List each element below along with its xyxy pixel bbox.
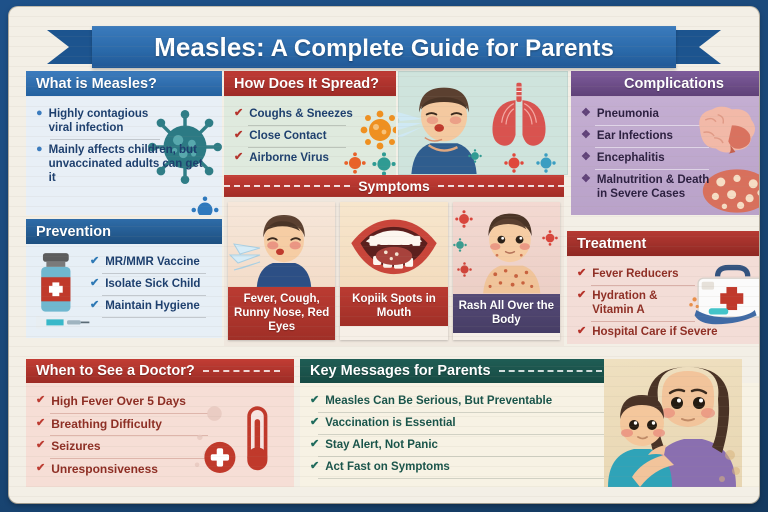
list-item: ● Highly contagious viral infection	[36, 104, 164, 139]
symptom-caption: Kopiik Spots in Mouth	[340, 287, 447, 326]
list-item-label: Pneumonia	[597, 107, 659, 121]
list-item-label: Unresponsiveness	[51, 462, 158, 477]
title-rest: A Complete Guide for Parents	[265, 35, 614, 62]
divider	[102, 317, 206, 318]
symptom-cards: Fever, Cough, Runny Nose, Red Eyes	[224, 197, 564, 346]
symptoms-header: Symptoms	[224, 175, 564, 197]
mother-holding-child-illustration	[604, 359, 742, 487]
list-item-label: Isolate Sick Child	[105, 277, 200, 291]
list-item-label: Seizures	[51, 439, 100, 454]
rash-child-illustration	[453, 202, 560, 294]
panel-how-does-it-spread: How Does It Spread?	[224, 71, 396, 176]
panel-body-when-to-see-doctor: ✔ High Fever Over 5 Days ✔ Breathing Dif…	[26, 383, 294, 487]
list-item-label: Hydration & Vitamin A	[592, 289, 695, 317]
list-item: ✔ Stay Alert, Not Panic	[310, 435, 610, 456]
symptoms-title: Symptoms	[358, 178, 430, 194]
symptom-caption: Fever, Cough, Runny Nose, Red Eyes	[228, 287, 335, 340]
panel-body-what-is-measles: ● Highly contagious viral infection ● Ma…	[26, 96, 222, 215]
check-bullet-icon: ✔	[310, 438, 319, 452]
poster-paper: Measles: A Complete Guide for Parents Wh…	[9, 7, 759, 503]
list-item: ✔ Airborne Virus	[234, 148, 386, 169]
list-item: ✔ Maintain Hygiene	[90, 296, 212, 317]
panel-header-treatment: Treatment	[567, 231, 759, 256]
red-virus-icon	[542, 230, 558, 246]
dashed-line-right	[438, 185, 564, 187]
dashed-line	[499, 370, 602, 372]
check-bullet-icon: ✔	[577, 267, 586, 281]
red-virus-icon	[455, 210, 473, 228]
check-bullet-icon: ✔	[36, 417, 45, 431]
dot-bullet-icon: ●	[36, 107, 43, 121]
check-bullet-icon: ✔	[234, 151, 243, 165]
list-item-label: Mainly affects children, but unvaccinate…	[49, 143, 206, 185]
check-bullet-icon: ✔	[90, 255, 99, 269]
list-item: ✔ Fever Reducers	[577, 264, 695, 285]
panel-when-to-see-doctor: When to See a Doctor?	[26, 359, 294, 487]
first-aid-kit-icon	[687, 264, 759, 326]
check-bullet-icon: ✔	[36, 439, 45, 453]
leaf-bullet-icon: ❖	[581, 107, 591, 121]
symptom-card: Rash All Over the Body	[453, 202, 560, 340]
list-item-label: Coughs & Sneezes	[249, 107, 353, 121]
panel-header-key-messages: Key Messages for Parents	[300, 359, 630, 383]
panel-header-how-does-it-spread: How Does It Spread?	[224, 71, 396, 96]
list-item: ❖ Pneumonia	[581, 104, 709, 125]
teal-virus-small-icon	[468, 149, 482, 163]
check-bullet-icon: ✔	[90, 277, 99, 291]
divider	[318, 478, 610, 479]
list-item-label: Measles Can Be Serious, But Preventable	[325, 394, 552, 408]
list-item-label: Vaccination is Essential	[325, 416, 455, 430]
panel-what-is-measles: What is Measles?	[26, 71, 222, 215]
list-item-label: Close Contact	[249, 129, 326, 143]
panel-body-prevention: ✔ MR/MMR Vaccine ✔ Isolate Sick Child ✔ …	[26, 244, 222, 338]
mother-and-child-icon	[604, 359, 742, 487]
check-bullet-icon: ✔	[310, 416, 319, 430]
panel-title-when-to-see-doctor: When to See a Doctor?	[36, 363, 195, 379]
panel-prevention: Prevention	[26, 219, 222, 338]
title-banner: Measles: A Complete Guide for Parents	[47, 26, 721, 68]
list-item-label: Malnutrition & Death in Severe Cases	[597, 173, 721, 201]
section-symptoms: Symptoms	[224, 175, 564, 346]
panel-header-prevention: Prevention	[26, 219, 222, 244]
list-item: ✔ Hydration & Vitamin A	[577, 286, 695, 321]
blue-virus-icon	[536, 153, 556, 173]
list-item: ✔ Seizures	[36, 436, 208, 458]
page-title: Measles: A Complete Guide for Parents	[154, 32, 614, 63]
check-bullet-icon: ✔	[234, 107, 243, 121]
symptom-card: Kopiik Spots in Mouth	[340, 202, 447, 340]
list-item: ✔ MR/MMR Vaccine	[90, 252, 212, 273]
coughing-boy-lungs-illustration	[398, 71, 568, 175]
list-item: ✔ Act Fast on Symptoms	[310, 457, 610, 478]
vaccine-vial-syringe-icon	[30, 248, 92, 334]
open-mouth-spots-illustration	[340, 202, 447, 287]
dashed-line-left	[224, 185, 350, 187]
list-item: ● Mainly affects children, but unvaccina…	[36, 140, 206, 189]
panel-body-treatment: ✔ Fever Reducers ✔ Hydration & Vitamin A…	[567, 256, 759, 344]
list-item-label: Encephalitis	[597, 151, 665, 165]
lungs-icon	[484, 81, 554, 147]
red-virus-icon	[457, 262, 472, 277]
symptom-caption: Rash All Over the Body	[453, 294, 560, 333]
check-bullet-icon: ✔	[577, 325, 586, 339]
leaf-bullet-icon: ❖	[581, 173, 591, 187]
list-item: ✔ Breathing Difficulty	[36, 414, 208, 436]
title-emphasis: Measles:	[154, 32, 265, 62]
sneezing-boy-illustration	[228, 202, 335, 287]
list-item: ❖ Ear Infections	[581, 126, 709, 147]
panel-header-when-to-see-doctor: When to See a Doctor?	[26, 359, 294, 383]
ribbon-tail-right	[669, 30, 721, 64]
list-item: ❖ Encephalitis	[581, 148, 709, 169]
list-item-label: Hospital Care if Severe	[592, 325, 717, 339]
list-item-label: High Fever Over 5 Days	[51, 394, 186, 409]
list-item: ✔ Coughs & Sneezes	[234, 104, 386, 125]
list-item: ✔ Close Contact	[234, 126, 386, 147]
panel-complications: Complications	[571, 71, 759, 215]
list-item: ✔ High Fever Over 5 Days	[36, 391, 208, 413]
check-bullet-icon: ✔	[36, 462, 45, 476]
list-item: ✔ Unresponsiveness	[36, 459, 208, 481]
list-item-label: Ear Infections	[597, 129, 673, 143]
check-bullet-icon: ✔	[310, 394, 319, 408]
symptom-card: Fever, Cough, Runny Nose, Red Eyes	[228, 202, 335, 340]
list-item-label: Fever Reducers	[592, 267, 678, 281]
panel-body-complications: ❖ Pneumonia ❖ Ear Infections ❖ Encephali…	[571, 96, 759, 215]
check-bullet-icon: ✔	[36, 394, 45, 408]
list-item-label: Maintain Hygiene	[105, 299, 200, 313]
list-item: ❖ Malnutrition & Death in Severe Cases	[581, 170, 721, 205]
panel-header-what-is-measles: What is Measles?	[26, 71, 222, 96]
list-item: ✔ Hospital Care if Severe	[577, 322, 747, 343]
title-ribbon: Measles: A Complete Guide for Parents	[92, 26, 676, 68]
poster-sheet: Measles: A Complete Guide for Parents Wh…	[9, 7, 759, 503]
list-item-label: Airborne Virus	[249, 151, 329, 165]
open-mouth-icon	[344, 208, 444, 282]
red-virus-icon	[504, 153, 524, 173]
list-item-label: Stay Alert, Not Panic	[325, 438, 438, 452]
list-item-label: Act Fast on Symptoms	[325, 460, 450, 474]
panel-header-complications: Complications	[571, 71, 759, 96]
list-item-label: Breathing Difficulty	[51, 417, 162, 432]
dashed-line	[203, 370, 280, 372]
list-item: ✔ Isolate Sick Child	[90, 274, 212, 295]
list-item-label: MR/MMR Vaccine	[105, 255, 200, 269]
panel-body-how-does-it-spread: ✔ Coughs & Sneezes ✔ Close Contact ✔ Air…	[224, 96, 396, 176]
check-bullet-icon: ✔	[310, 460, 319, 474]
check-bullet-icon: ✔	[234, 129, 243, 143]
small-virus-icon	[190, 195, 220, 215]
teal-virus-icon	[453, 238, 467, 252]
list-item: ✔ Measles Can Be Serious, But Preventabl…	[310, 391, 610, 412]
rash-child-icon	[471, 204, 549, 294]
panel-title-key-messages: Key Messages for Parents	[310, 363, 491, 379]
leaf-bullet-icon: ❖	[581, 151, 591, 165]
list-item: ✔ Vaccination is Essential	[310, 413, 610, 434]
sneeze-spray-icon	[398, 109, 428, 143]
check-bullet-icon: ✔	[90, 299, 99, 313]
panel-treatment: Treatment ✔	[567, 231, 759, 344]
poster-frame: Measles: A Complete Guide for Parents Wh…	[0, 0, 768, 512]
dot-bullet-icon: ●	[36, 143, 43, 157]
leaf-bullet-icon: ❖	[581, 129, 591, 143]
tissue-spray-icon	[228, 242, 264, 274]
check-bullet-icon: ✔	[577, 289, 586, 303]
list-item-label: Highly contagious viral infection	[49, 107, 164, 135]
